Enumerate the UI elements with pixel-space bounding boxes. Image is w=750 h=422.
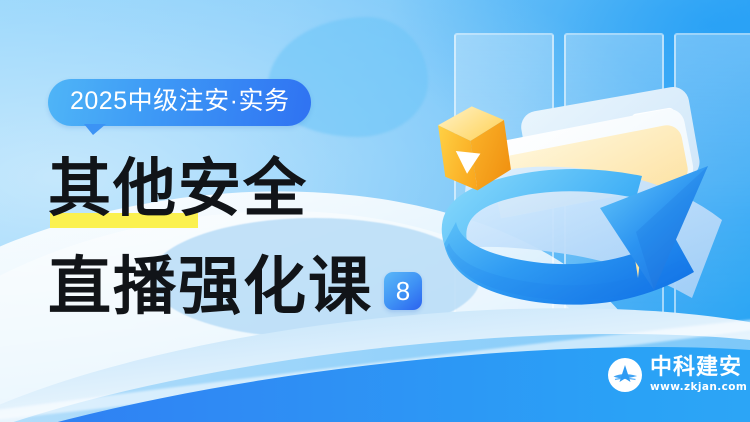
brand-logo: 中科建安 www.zkjan.com (608, 357, 747, 393)
banner-title-block: 其他安全 直播强化课 8 (48, 150, 422, 324)
badge-tail-pointer (84, 124, 106, 135)
title-text-secondary: 直播强化课 (48, 251, 373, 321)
brand-url: www.zkjan.com (650, 382, 747, 393)
course-promo-banner: 2025中级注安·实务 其他安全 直播强化课 8 中科建安 (0, 0, 750, 422)
episode-number-badge: 8 (384, 272, 422, 310)
course-category-badge-wrapper: 2025中级注安·实务 (48, 79, 311, 126)
title-text-primary: 其他安全 (48, 151, 308, 225)
brand-name: 中科建安 (650, 357, 747, 379)
brand-logo-text: 中科建安 www.zkjan.com (650, 357, 747, 393)
banner-text-content: 2025中级注安·实务 其他安全 直播强化课 8 (0, 0, 460, 422)
course-category-badge: 2025中级注安·实务 (48, 79, 311, 126)
title-line-1: 其他安全 (48, 150, 422, 226)
title-line-2: 直播强化课 8 (48, 248, 422, 324)
zkjan-logo-icon (608, 358, 642, 392)
